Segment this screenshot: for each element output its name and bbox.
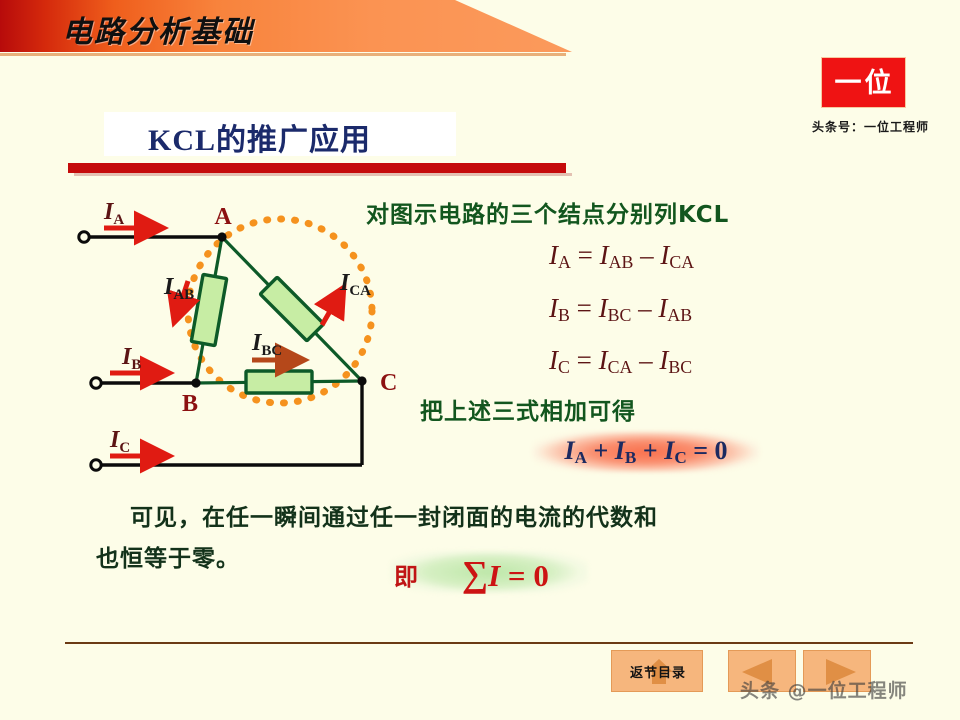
banner-underline: [0, 53, 566, 56]
sigma-variable: I: [488, 558, 500, 593]
title-rule: [68, 163, 566, 173]
current-label-ia: IA: [103, 199, 124, 228]
sum-equation-block: IA + IB + IC = 0: [532, 432, 760, 472]
node-label-a: A: [214, 204, 232, 230]
resistor-ab: [191, 274, 226, 345]
current-label-ibc: IBC: [251, 330, 282, 359]
node-dot-c: [357, 376, 366, 385]
title-rule-shadow: [74, 173, 572, 176]
resistor-ca: [260, 277, 324, 341]
sigma-symbol: ∑: [462, 553, 488, 594]
current-label-ic: IC: [109, 427, 130, 456]
slide-canvas: 电路分析基础 一位 头条号：一位工程师 KCL的推广应用: [0, 0, 960, 720]
sum-hint-text: 把上述三式相加可得: [420, 392, 636, 426]
current-label-ica: ICA: [339, 270, 371, 299]
footer-divider: [65, 642, 913, 644]
terminal-c: [91, 460, 101, 470]
terminal-b: [91, 378, 101, 388]
nav-home-button[interactable]: 返节目录: [611, 650, 703, 692]
current-label-ib: IB: [121, 344, 141, 373]
brand-caption: 头条号：一位工程师: [783, 118, 958, 135]
sigma-equation-block: 即 ∑I = 0: [368, 551, 588, 593]
course-title: 电路分析基础: [62, 7, 254, 51]
kcl-equation-b: IB = IBC – IAB: [549, 293, 692, 326]
header-banner: 电路分析基础: [0, 0, 580, 56]
sigma-equals: = 0: [508, 558, 549, 593]
watermark-text: 头条 @一位工程师: [740, 676, 908, 703]
resistor-bc: [246, 371, 312, 393]
node-label-c: C: [380, 370, 397, 396]
nav-home-label: 返节目录: [612, 651, 704, 693]
brand-logo-box: 一位: [821, 57, 906, 108]
brand-logo-text: 一位: [822, 58, 907, 109]
kcl-equation-c: IC = ICA – IBC: [549, 345, 692, 378]
conclusion-line-1: 可见，在任一瞬间通过任一封闭面的电流的代数和: [96, 498, 886, 539]
node-dot-b: [191, 378, 200, 387]
sigma-prefix: 即: [394, 557, 418, 592]
lead-in-text: 对图示电路的三个结点分别列KCL: [366, 195, 729, 229]
sum-equation: IA + IB + IC = 0: [532, 436, 760, 468]
node-label-b: B: [182, 391, 198, 417]
kcl-equation-a: IA = IAB – ICA: [549, 240, 694, 273]
page-title: KCL的推广应用: [148, 115, 371, 159]
current-label-iab: IAB: [163, 274, 194, 303]
circuit-diagram: A B C IA IB IC IAB IBC ICA: [60, 190, 410, 490]
terminal-a: [79, 232, 89, 242]
node-dot-a: [217, 232, 226, 241]
sigma-equation: ∑I = 0: [462, 552, 549, 595]
